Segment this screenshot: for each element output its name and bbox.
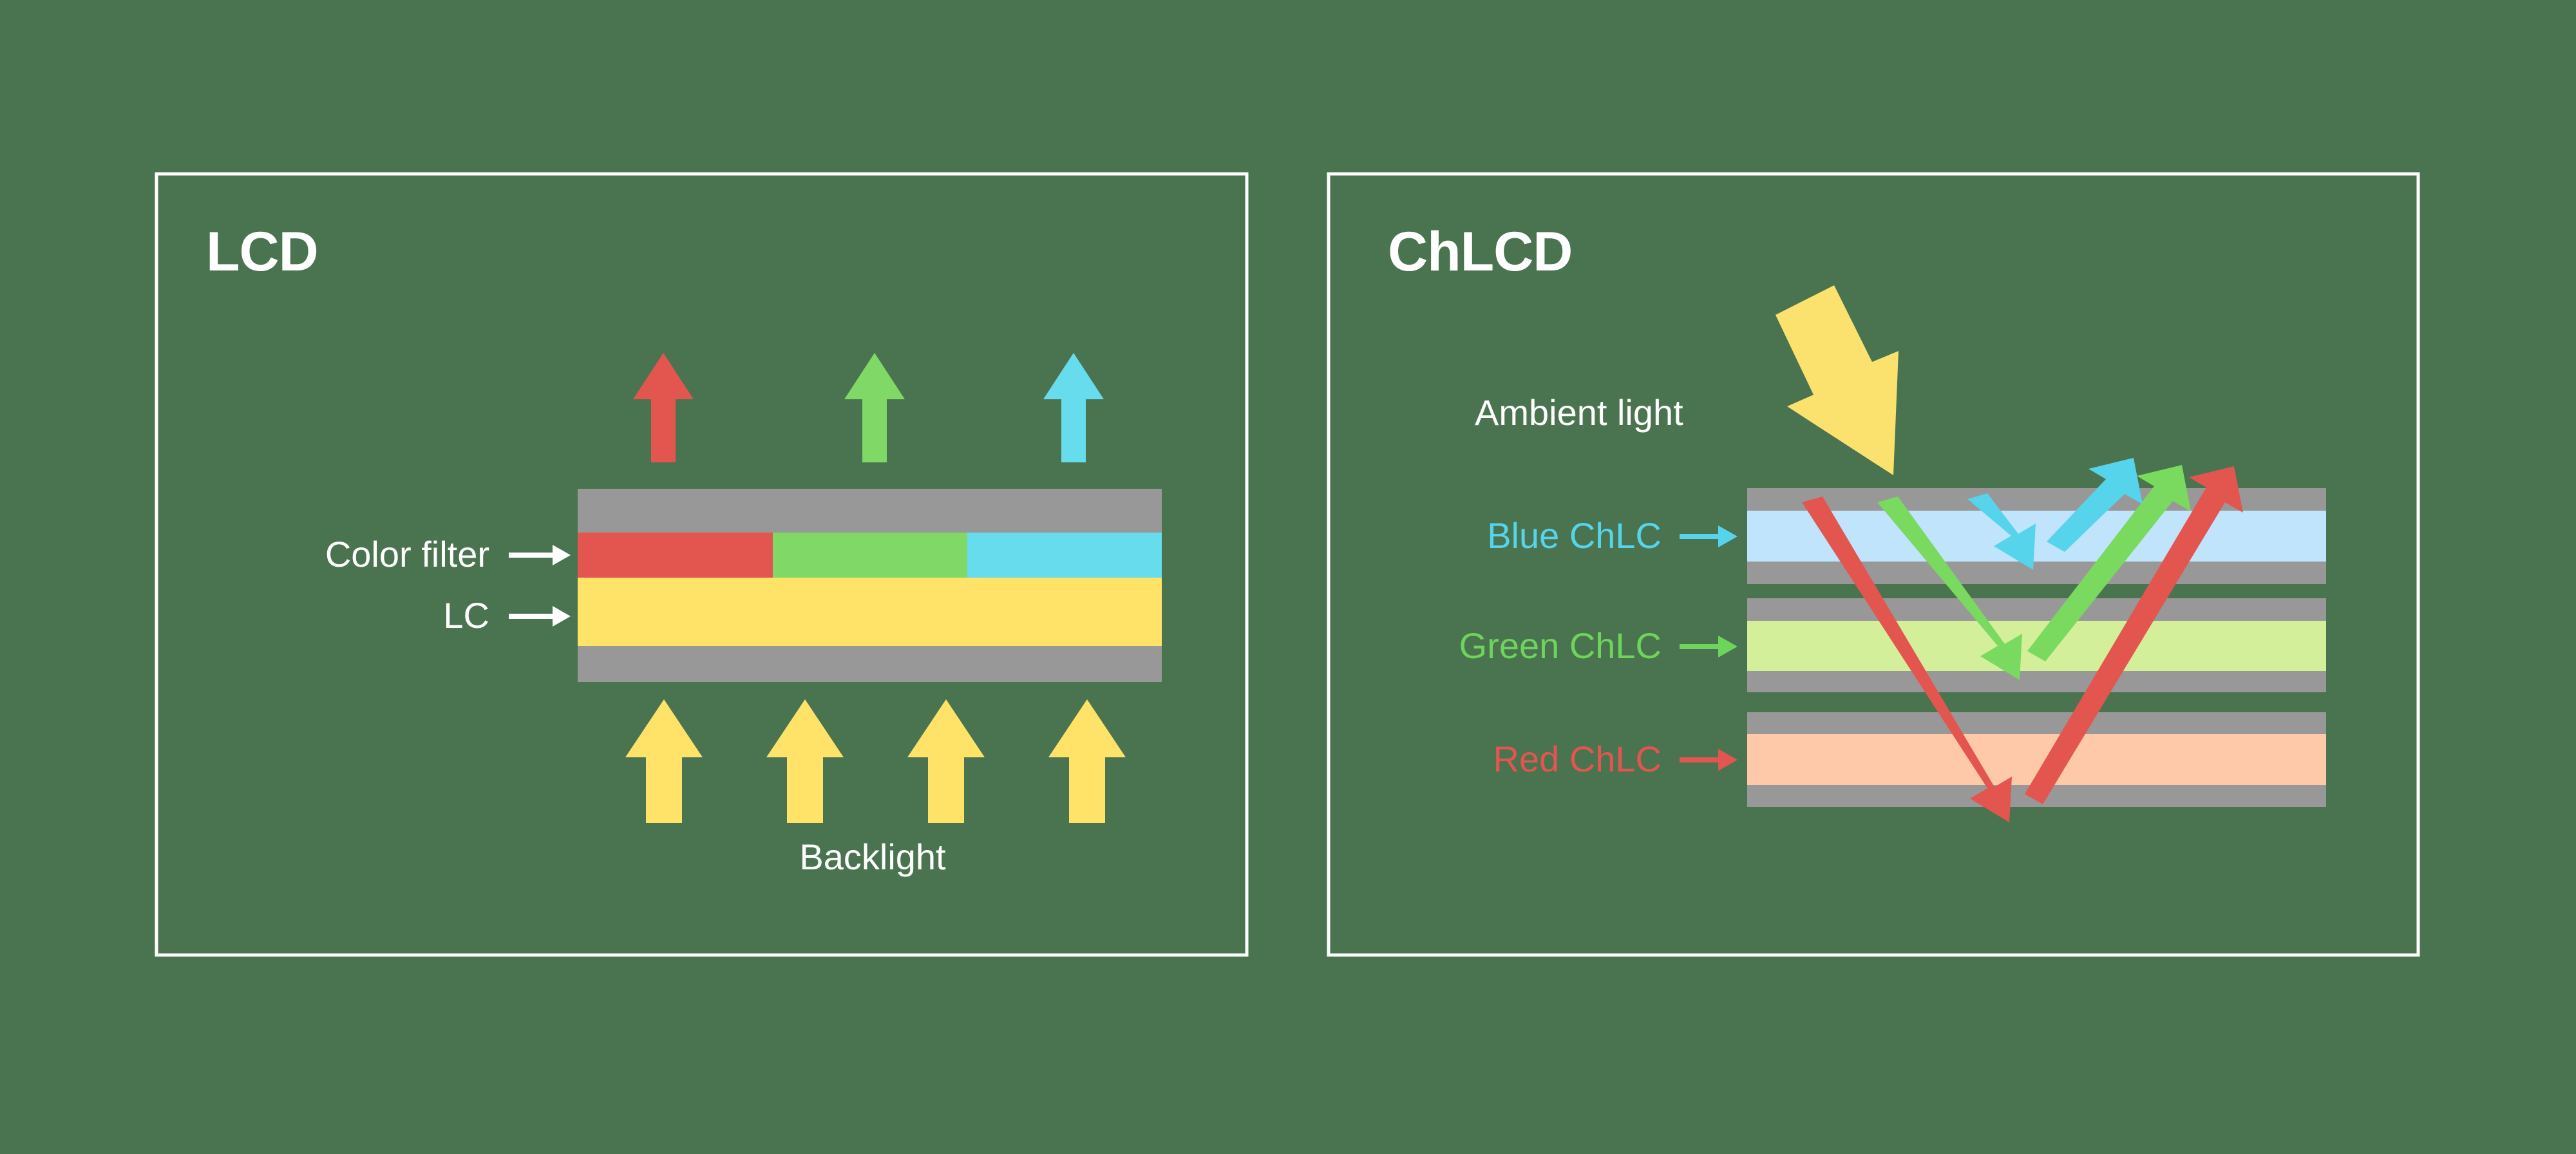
color-filter-red [578, 533, 773, 578]
backlight-label: Backlight [799, 837, 946, 877]
lc-label: LC [443, 595, 489, 636]
lcd-stack [578, 489, 1162, 682]
red-cell-top-substrate [1747, 712, 2326, 734]
color-filter-blue [967, 533, 1162, 578]
diagram-canvas: LCD Color filter LC [0, 0, 2576, 1154]
color-filter-green [773, 533, 967, 578]
lcd-bottom-substrate [578, 646, 1162, 682]
lcd-panel-title: LCD [206, 221, 318, 283]
blue-cell-bottom-substrate [1747, 562, 2326, 584]
green-cell-bottom-substrate [1747, 671, 2326, 692]
chlcd-panel-title: ChLCD [1388, 221, 1572, 283]
blue-chlc-label: Blue ChLC [1487, 515, 1662, 556]
green-cell-top-substrate [1747, 598, 2326, 621]
red-chlc-label: Red ChLC [1493, 739, 1662, 779]
ambient-light-label: Ambient light [1475, 392, 1683, 433]
green-chlc-label: Green ChLC [1459, 625, 1662, 666]
lcd-vs-chlcd-diagram: LCD Color filter LC [0, 0, 2576, 1154]
color-filter-label: Color filter [325, 534, 489, 574]
lcd-top-substrate [578, 489, 1162, 533]
liquid-crystal-layer [578, 578, 1162, 646]
